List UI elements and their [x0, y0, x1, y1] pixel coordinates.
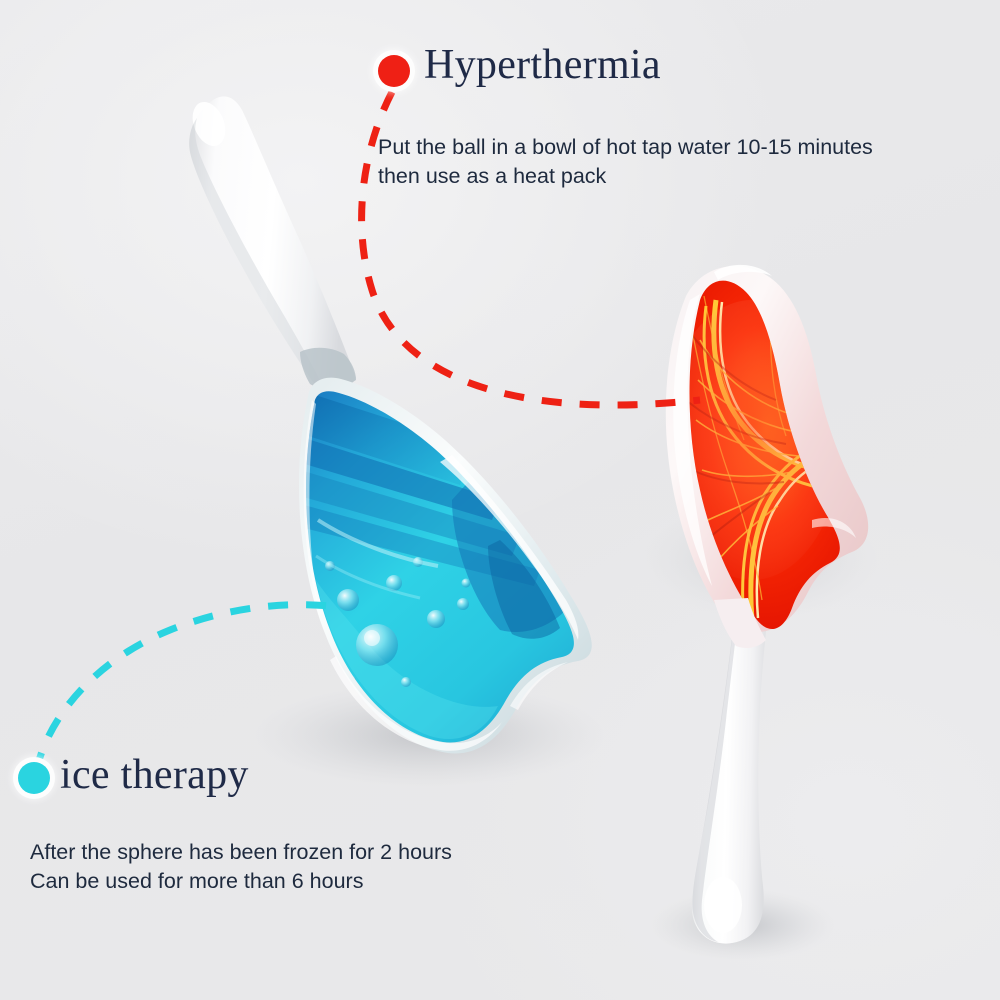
hyperthermia-line-2: then use as a heat pack	[378, 162, 873, 191]
ice-therapy-line-1: After the sphere has been frozen for 2 h…	[30, 838, 452, 867]
cyan-bullet-dot-icon	[18, 762, 50, 794]
red-bullet-dot-icon	[378, 55, 410, 87]
hyperthermia-line-1: Put the ball in a bowl of hot tap water …	[378, 133, 873, 162]
hyperthermia-description: Put the ball in a bowl of hot tap water …	[378, 133, 873, 191]
hyperthermia-title: Hyperthermia	[424, 44, 661, 86]
ice-therapy-title: ice therapy	[60, 754, 249, 796]
ice-therapy-line-2: Can be used for more than 6 hours	[30, 867, 452, 896]
ice-therapy-description: After the sphere has been frozen for 2 h…	[30, 838, 452, 896]
product-infographic: Hyperthermia Put the ball in a bowl of h…	[0, 0, 1000, 1000]
